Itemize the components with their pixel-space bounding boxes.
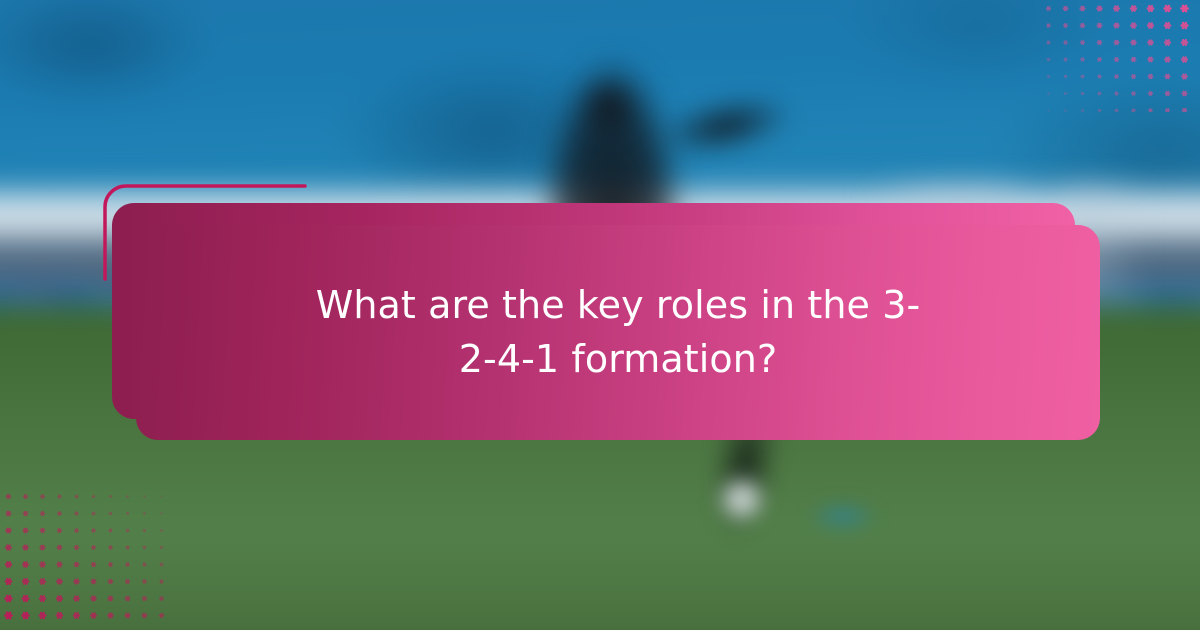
question-text: What are the key roles in the 3-2-4-1 fo… [298,279,938,387]
question-card: What are the key roles in the 3-2-4-1 fo… [136,225,1100,440]
social-card-canvas: What are the key roles in the 3-2-4-1 fo… [0,0,1200,630]
player-boot-blur [798,498,888,536]
player-head-blur [571,66,648,148]
soccer-ball-blur [712,469,774,532]
